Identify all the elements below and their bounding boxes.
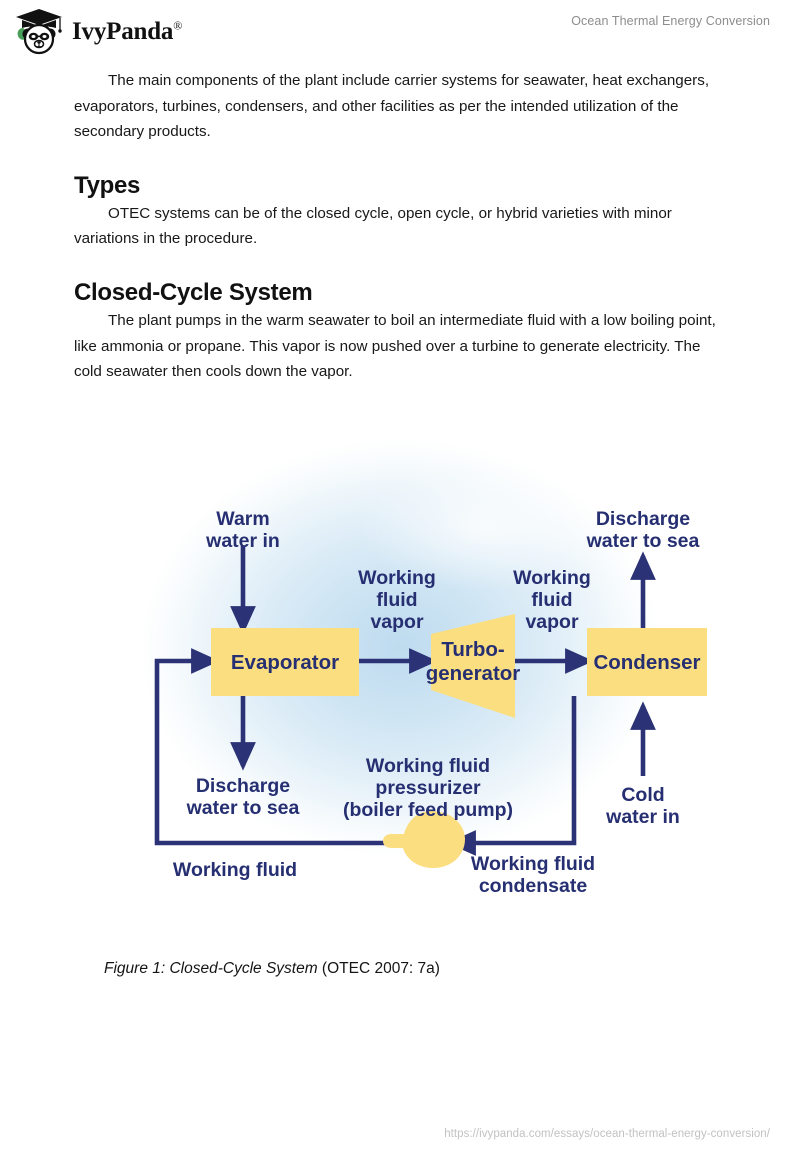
label-evaporator: Evaporator	[231, 651, 339, 674]
figure-caption-title: Figure 1: Closed-Cycle System	[104, 960, 318, 977]
label-wf-vapor-left-line2: fluid	[376, 589, 417, 611]
label-pump-line2: pressurizer	[375, 777, 481, 799]
ivypanda-panda-logo-icon	[14, 8, 64, 56]
label-working-fluid: Working fluid	[173, 859, 297, 881]
paragraph-otec-systems: OTEC systems can be of the closed cycle,…	[74, 201, 726, 252]
label-cold-water-in-line2: water in	[605, 806, 680, 828]
figure-caption: Figure 1: Closed-Cycle System (OTEC 2007…	[104, 960, 440, 978]
label-discharge-left-line2: water to sea	[186, 797, 300, 819]
closed-cycle-system-diagram: Evaporator Turbo- generator Condenser Wa…	[115, 418, 710, 918]
label-wf-vapor-left-line1: Working	[358, 567, 436, 589]
label-turbo-generator-line1: Turbo-	[441, 638, 504, 661]
registered-trademark-icon: ®	[173, 19, 182, 33]
heading-types: Types	[74, 171, 726, 201]
figure-closed-cycle-diagram: Evaporator Turbo- generator Condenser Wa…	[115, 418, 710, 918]
label-warm-water-in-line1: Warm	[216, 508, 269, 530]
paragraph-plant-pumps: The plant pumps in the warm seawater to …	[74, 308, 726, 385]
document-body: The main components of the plant include…	[74, 68, 726, 385]
label-condensate-line2: condensate	[479, 875, 588, 897]
paragraph-main-components: The main components of the plant include…	[74, 68, 726, 145]
label-warm-water-in-line2: water in	[205, 530, 280, 552]
brand-logo: IvyPanda®	[14, 8, 182, 56]
label-condenser: Condenser	[593, 651, 700, 674]
label-discharge-right-line1: Discharge	[596, 508, 690, 530]
label-pump-line1: Working fluid	[366, 755, 490, 777]
document-running-title: Ocean Thermal Energy Conversion	[571, 14, 770, 28]
label-wf-vapor-right-line1: Working	[513, 567, 591, 589]
figure-caption-source: (OTEC 2007: 7a)	[318, 960, 440, 977]
label-discharge-right-line2: water to sea	[586, 530, 700, 552]
footer-source-url[interactable]: https://ivypanda.com/essays/ocean-therma…	[0, 1128, 770, 1140]
page-header: IvyPanda® Ocean Thermal Energy Conversio…	[0, 0, 800, 62]
label-pump-line3: (boiler feed pump)	[343, 799, 513, 821]
label-wf-vapor-right-line3: vapor	[525, 611, 579, 633]
brand-name-text: IvyPanda	[72, 18, 173, 45]
brand-name: IvyPanda®	[72, 18, 182, 46]
label-turbo-generator-line2: generator	[426, 662, 521, 685]
label-wf-vapor-right-line2: fluid	[531, 589, 572, 611]
label-cold-water-in-line1: Cold	[621, 784, 664, 806]
label-wf-vapor-left-line3: vapor	[370, 611, 424, 633]
heading-closed-cycle-system: Closed-Cycle System	[74, 278, 726, 308]
label-condensate-line1: Working fluid	[471, 853, 595, 875]
label-discharge-left-line1: Discharge	[196, 775, 290, 797]
